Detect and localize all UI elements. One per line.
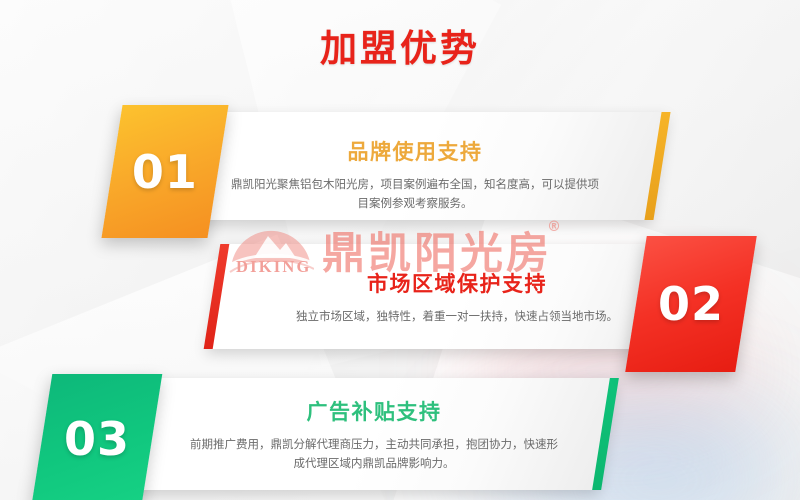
card-3-number-block: 03 [32, 374, 163, 500]
card-1-number: 01 [132, 145, 198, 199]
card-1-number-block: 01 [101, 105, 228, 238]
card-3-content: 广告补贴支持 前期推广费用，鼎凯分解代理商压力，主动共同承担，抱团协力，快速形成… [188, 396, 560, 472]
card-1-body: 鼎凯阳光聚焦铝包木阳光房，项目案例遍布全国，知名度高，可以提供项目案例参观考察服… [230, 175, 600, 212]
card-3-body: 前期推广费用，鼎凯分解代理商压力，主动共同承担，抱团协力，快速形成代理区域内鼎凯… [188, 435, 560, 472]
card-3-title: 广告补贴支持 [188, 396, 560, 426]
page-title: 加盟优势 [0, 18, 800, 72]
card-2-number-block: 02 [625, 236, 757, 372]
card-1-title: 品牌使用支持 [230, 136, 600, 166]
card-2-body: 独立市场区域，独特性，着重一对一扶持，快速占领当地市场。 [282, 307, 632, 326]
card-2-content: 市场区域保护支持 独立市场区域，独特性，着重一对一扶持，快速占领当地市场。 [282, 268, 632, 326]
card-1-content: 品牌使用支持 鼎凯阳光聚焦铝包木阳光房，项目案例遍布全国，知名度高，可以提供项目… [230, 136, 600, 212]
card-2-number: 02 [658, 277, 724, 331]
card-3-number: 03 [64, 412, 130, 466]
card-2-title: 市场区域保护支持 [282, 268, 632, 298]
